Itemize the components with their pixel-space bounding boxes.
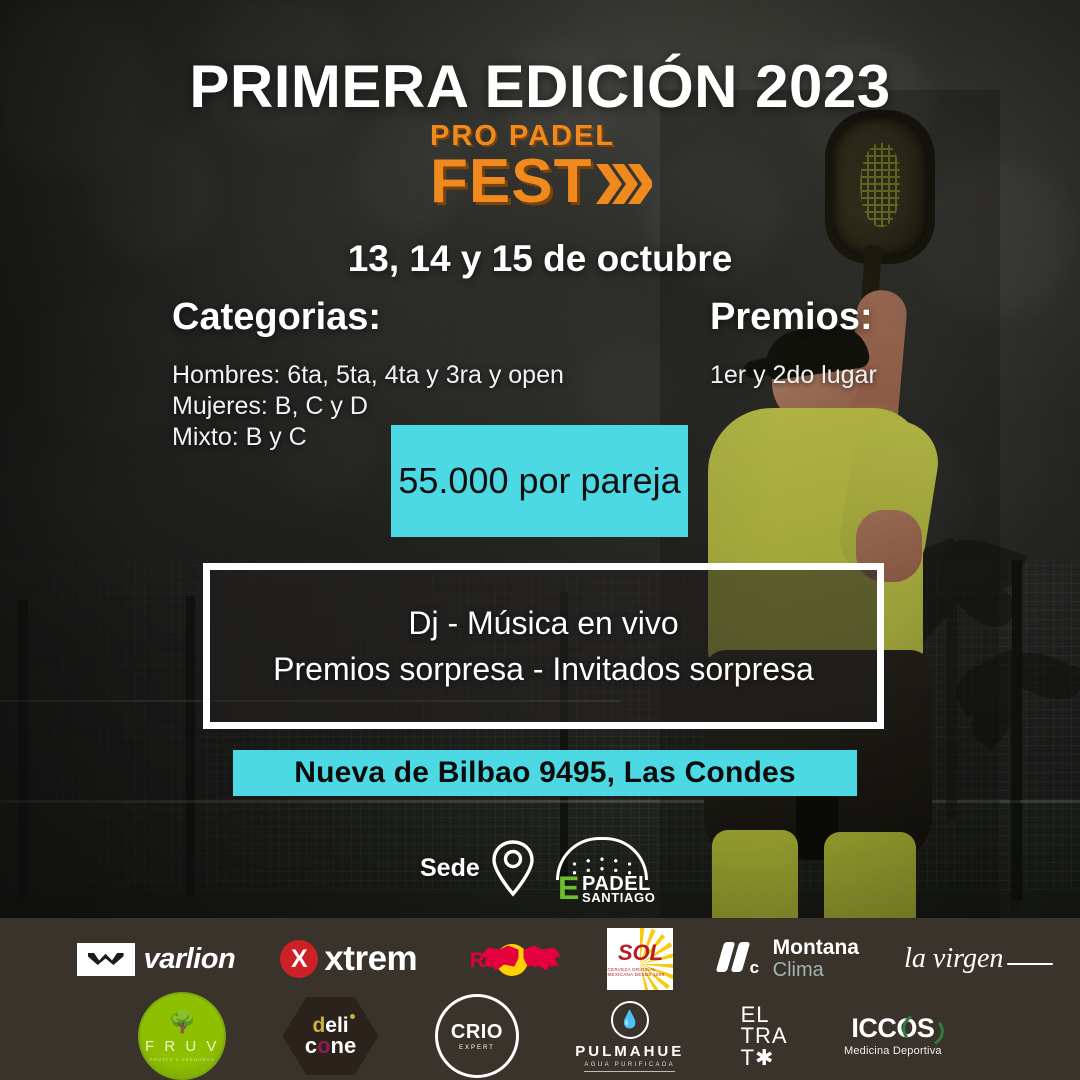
water-drop-icon: 💧 [611,1001,649,1039]
sponsor-iccos: ICCOS Medicina Deportiva [844,1015,942,1057]
sponsor-row-1: varlion X xtrem Red Bull [0,926,1080,992]
sponsor-crio-expert: CRIO EXPERT [435,994,519,1078]
prizes-title: Premios: [710,296,873,339]
address-banner: Nueva de Bilbao 9495, Las Condes [233,750,857,796]
prizes-line-1: 1er y 2do lugar [710,360,877,391]
categories-title: Categorias: [172,296,381,339]
sponsor-varlion: varlion [77,943,236,976]
epadel-city: SANTIAGO [582,891,655,904]
crio-sublabel: EXPERT [459,1045,495,1051]
event-dates: 13, 14 y 15 de octubre [0,238,1080,280]
crio-label: CRIO [451,1022,503,1042]
varlion-label: varlion [144,943,236,976]
logo-fest-text: FEST [430,153,592,212]
feature-line-1: Dj - Música en vivo [408,600,678,646]
chevron-triple-right-icon [596,162,652,206]
pro-padel-fest-logo: PRO PADEL FEST [430,122,660,232]
montana-mark-icon: c [719,942,765,976]
pulmahue-sublabel: AGUA PURIFICADA [584,1062,675,1072]
cone-label: cone [305,1036,356,1057]
sponsor-band: varlion X xtrem Red Bull [0,918,1080,1080]
prizes-list: 1er y 2do lugar [710,360,877,391]
xtrem-x-icon: X [280,940,318,978]
feature-line-2: Premios sorpresa - Invitados sorpresa [273,646,814,692]
price-badge: 55.000 por pareja [391,425,688,537]
features-box: Dj - Música en vivo Premios sorpresa - I… [203,563,884,729]
epadel-santiago-logo: E PADEL SANTIAGO [550,837,648,899]
fruv-label: F R U V [145,1038,219,1055]
categories-line-2: Mujeres: B, C y D [172,391,564,422]
sponsor-pulmahue: 💧 PULMAHUE AGUA PURIFICADA [575,1001,684,1072]
el-trat-label: ELTRAT✱ [741,1004,788,1069]
sponsor-sol: SOL CERVEZA ORIGINAL MEXICANA DESDE 1899 [607,928,673,990]
poster-root: PRIMERA EDICIÓN 2023 PRO PADEL FEST 13, … [0,0,1080,1080]
price-text: 55.000 por pareja [398,461,680,501]
sponsor-xtrem: X xtrem [280,939,417,979]
clima-label: Clima [773,960,859,981]
categories-line-1: Hombres: 6ta, 5ta, 4ta y 3ra y open [172,360,564,391]
pulmahue-label: PULMAHUE [575,1044,684,1059]
address-text: Nueva de Bilbao 9495, Las Condes [294,756,796,790]
page-title: PRIMERA EDICIÓN 2023 [0,52,1080,121]
montana-label: Montana [773,937,859,959]
fruv-sublabel: FRUTAS Y VERDURAS [150,1057,215,1062]
sponsor-deli-cone: deli cone [283,997,379,1075]
varlion-mark-icon [77,943,135,976]
venue-row: Sede E PADEL SANTIAGO [420,832,680,904]
venue-label: Sede [420,855,476,881]
sponsor-el-trat: ELTRAT✱ [741,1004,788,1069]
sponsor-red-bull: Red Bull [462,942,562,976]
xtrem-label: xtrem [324,939,417,979]
epadel-letter: E [558,875,579,903]
sponsor-montana-clima: c Montana Clima [719,937,859,980]
sponsor-row-2: 🌳 F R U V FRUTAS Y VERDURAS deli cone CR… [0,996,1080,1076]
sol-sublabel: CERVEZA ORIGINAL MEXICANA DESDE 1899 [607,967,673,977]
la-virgen-label: la virgen [904,943,1003,975]
sponsor-la-virgen: la virgen [904,943,1003,975]
fruv-tree-icon: 🌳 [167,1011,197,1037]
sol-label: SOL [618,942,663,964]
sponsor-fruv: 🌳 F R U V FRUTAS Y VERDURAS [138,992,226,1080]
location-pin-icon [490,839,536,897]
